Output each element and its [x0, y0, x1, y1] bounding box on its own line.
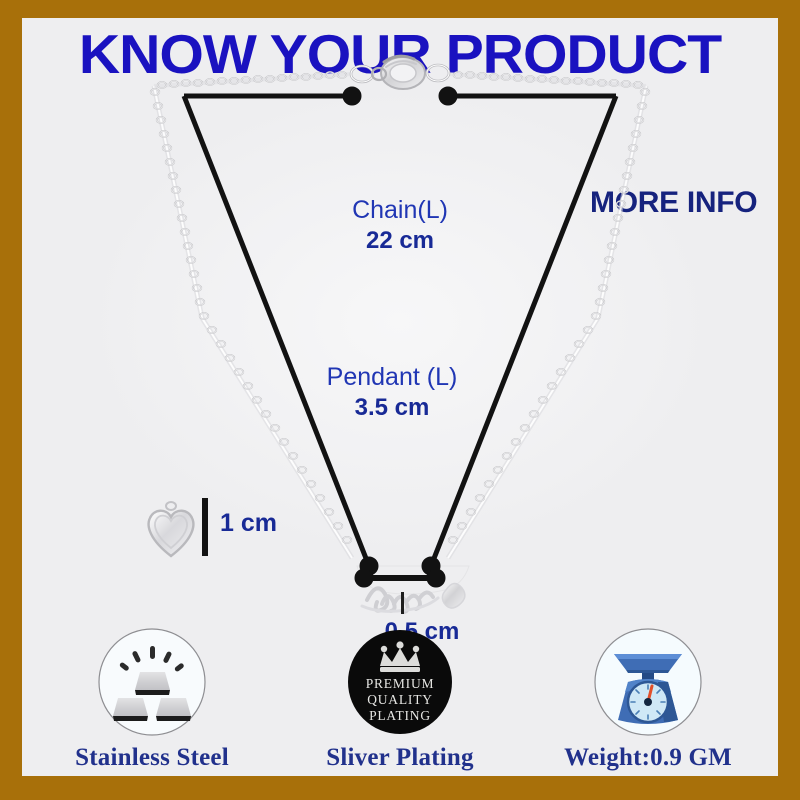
pendant-length-measurement: Pendant (L) 3.5 cm [272, 363, 512, 424]
infographic-canvas: KNOW YOUR PRODUCT MORE INFO [22, 18, 778, 776]
seal-line-3: PLATING [369, 708, 431, 723]
kitchen-scale-icon [592, 626, 704, 738]
badge-caption-stainless-steel: Stainless Steel [75, 744, 229, 772]
pendant-length-label: Pendant (L) [272, 363, 512, 392]
chain-left [151, 86, 352, 558]
premium-quality-crown-icon: PREMIUM QUALITY PLATING [344, 626, 456, 738]
feature-badges: Stainless Steel PREMIUM QUALITY PLATING [22, 602, 778, 772]
metal-bars-icon [96, 626, 208, 738]
heart-height-measurement: 1 cm [140, 498, 310, 570]
badge-caption-weight: Weight:0.9 GM [564, 744, 732, 772]
more-info-heading: MORE INFO [590, 186, 757, 220]
heart-pendant-icon [140, 498, 202, 564]
badge-silver-plating: PREMIUM QUALITY PLATING Sliver Plating [285, 626, 515, 772]
chain-right [448, 86, 649, 558]
heart-height-bar [202, 498, 208, 556]
page-title: KNOW YOUR PRODUCT [22, 22, 778, 86]
badge-caption-silver-plating: Sliver Plating [326, 744, 473, 772]
chain-length-measurement: Chain(L) 22 cm [280, 196, 520, 257]
badge-stainless-steel: Stainless Steel [37, 626, 267, 772]
seal-line-1: PREMIUM [366, 676, 435, 691]
chain-length-label: Chain(L) [280, 196, 520, 225]
seal-line-2: QUALITY [367, 692, 433, 707]
pendant-length-value: 3.5 cm [272, 392, 512, 424]
product-infographic: KNOW YOUR PRODUCT MORE INFO [0, 0, 800, 800]
heart-height-value: 1 cm [220, 509, 277, 538]
badge-weight: Weight:0.9 GM [533, 626, 763, 772]
chain-length-value: 22 cm [280, 225, 520, 257]
